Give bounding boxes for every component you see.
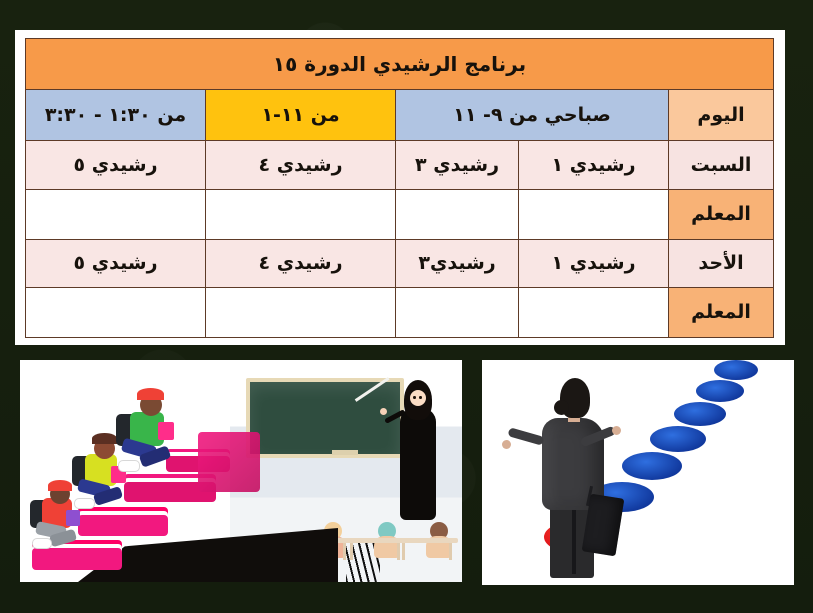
student-shoe: [32, 538, 52, 549]
cell-sat-morning-1: رشيدي ١: [519, 141, 669, 189]
teacher-hand: [380, 408, 387, 415]
disc-face: [622, 452, 682, 480]
cell-teacher-sat-morning-1[interactable]: [519, 189, 669, 239]
cell-sun-afternoon: رشيدي ٥: [26, 239, 206, 287]
row-label-sunday: الأحد: [669, 239, 774, 287]
header-midday: من ١١-١: [206, 90, 396, 141]
woman-hand-left: [502, 440, 511, 449]
schedule-table-card: برنامج الرشيدي الدورة ١٥ اليوم صباحي من …: [15, 30, 785, 345]
teacher-eye-left: [413, 396, 416, 399]
table-row: الأحد رشيدي ١ رشيدي٣ رشيدي ٤ رشيدي ٥: [26, 239, 774, 287]
disc-face: [650, 426, 706, 452]
businesswoman-climbing-steps-photo: [482, 360, 794, 585]
header-day: اليوم: [669, 90, 774, 141]
cell-sat-afternoon: رشيدي ٥: [26, 141, 206, 189]
woman-arm-left: [507, 427, 544, 446]
teacher-abaya: [400, 408, 436, 520]
blackboard-icon: [246, 378, 404, 458]
table-row: السبت رشيدي ١ رشيدي ٣ رشيدي ٤ رشيدي ٥: [26, 141, 774, 189]
title-row: برنامج الرشيدي الدورة ١٥: [26, 39, 774, 90]
cap-icon: [137, 388, 164, 400]
cell-teacher-sun-morning-1[interactable]: [519, 287, 669, 337]
teacher-figure: [398, 380, 444, 520]
desk-leg: [402, 543, 405, 560]
classroom-scene: [20, 360, 462, 582]
step-disc-blue-4: [674, 402, 726, 426]
table-row: المعلم: [26, 189, 774, 239]
step-disc-blue-2: [622, 452, 682, 480]
disc-face: [696, 380, 744, 402]
cell-sat-midday: رشيدي ٤: [206, 141, 396, 189]
row-label-teacher-saturday: المعلم: [669, 189, 774, 239]
woman-hair-bun: [554, 400, 569, 415]
disc-face: [674, 402, 726, 426]
hair-icon: [92, 433, 117, 444]
schedule-title: برنامج الرشيدي الدورة ١٥: [26, 39, 774, 90]
step-disc-blue-3: [650, 426, 706, 452]
cell-teacher-sun-midday[interactable]: [206, 287, 396, 337]
teacher-eye-right: [419, 396, 422, 399]
chalk-tray: [332, 450, 358, 455]
student-figure: [120, 398, 186, 490]
cell-sun-midday: رشيدي ٤: [206, 239, 396, 287]
stepping-stones-scene: [482, 360, 794, 585]
cell-sun-morning-1: رشيدي ١: [519, 239, 669, 287]
schedule-table: برنامج الرشيدي الدورة ١٥ اليوم صباحي من …: [25, 38, 774, 338]
book-icon: [158, 422, 174, 440]
cell-sun-morning-2: رشيدي٣: [396, 239, 519, 287]
book-step-riser: [198, 432, 260, 492]
table-row: المعلم: [26, 287, 774, 337]
header-morning: صباحي من ٩- ١١: [396, 90, 669, 141]
row-label-teacher-sunday: المعلم: [669, 287, 774, 337]
desk-leg: [449, 543, 452, 560]
student-shoe: [74, 498, 95, 509]
column-header-row: اليوم صباحي من ٩- ١١ من ١١-١ من ١:٣٠ - ٣…: [26, 90, 774, 141]
disc-face: [714, 360, 758, 380]
illustrations-row: [20, 360, 795, 592]
student-shoe: [118, 460, 140, 472]
woman-leg-gap: [572, 508, 576, 574]
businesswoman-figure: [524, 378, 628, 578]
cell-sat-morning-2: رشيدي ٣: [396, 141, 519, 189]
step-disc-blue-5: [696, 380, 744, 402]
cell-teacher-sat-afternoon[interactable]: [26, 189, 206, 239]
header-afternoon: من ١:٣٠ - ٣:٣٠: [26, 90, 206, 141]
desk: [396, 526, 458, 560]
row-label-saturday: السبت: [669, 141, 774, 189]
woman-hand-right: [612, 426, 621, 435]
cell-teacher-sun-morning-2[interactable]: [396, 287, 519, 337]
teacher-face: [410, 390, 426, 406]
step-disc-blue-6: [714, 360, 758, 380]
cell-teacher-sat-morning-2[interactable]: [396, 189, 519, 239]
cell-teacher-sat-midday[interactable]: [206, 189, 396, 239]
cell-teacher-sun-afternoon[interactable]: [26, 287, 206, 337]
cap-icon: [48, 480, 72, 491]
classroom-and-book-stairs-illustration: [20, 360, 462, 582]
desk-leg: [350, 543, 353, 560]
